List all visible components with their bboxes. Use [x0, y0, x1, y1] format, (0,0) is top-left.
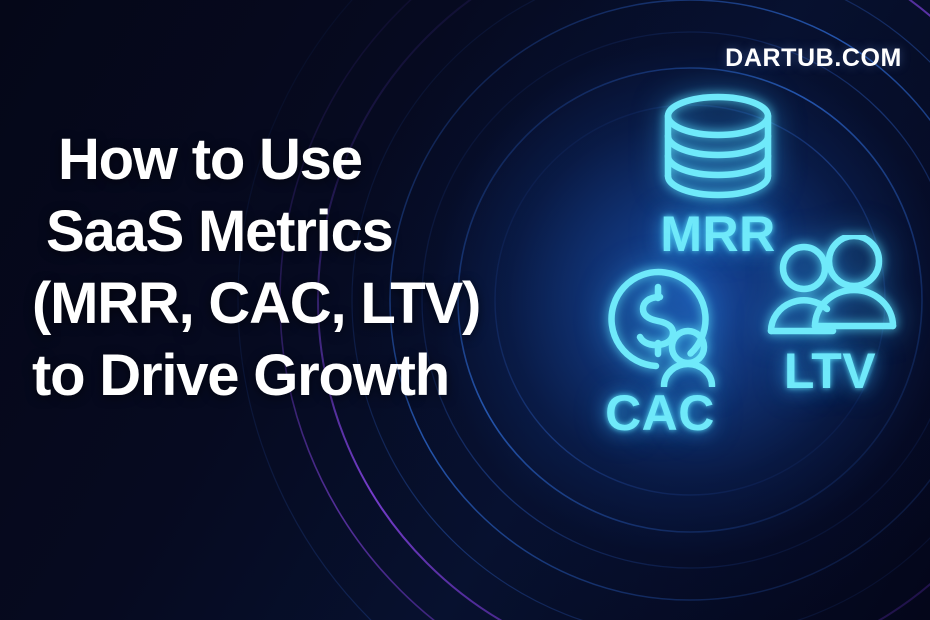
metric-label-cac: CAC — [560, 387, 760, 439]
metric-ltv: LTV — [735, 235, 925, 397]
database-coin-stack-icon — [653, 90, 783, 208]
metric-label-ltv: LTV — [735, 345, 925, 397]
metrics-cluster: MRR CAC — [520, 70, 930, 490]
title-line-2: SaaS Metrics — [46, 196, 528, 268]
dollar-circle-person-icon — [594, 265, 726, 387]
title-line-1: How to Use — [58, 124, 528, 196]
site-watermark: DARTUB.COM — [725, 44, 902, 73]
title-line-3: (MRR, CAC, LTV) — [32, 268, 528, 340]
page-title: How to Use SaaS Metrics (MRR, CAC, LTV) … — [58, 124, 528, 412]
title-line-4: to Drive Growth — [32, 340, 528, 412]
two-people-group-icon — [763, 235, 897, 345]
cover-canvas: DARTUB.COM How to Use SaaS Metrics (MRR,… — [0, 0, 930, 620]
metric-cac: CAC — [560, 265, 760, 439]
